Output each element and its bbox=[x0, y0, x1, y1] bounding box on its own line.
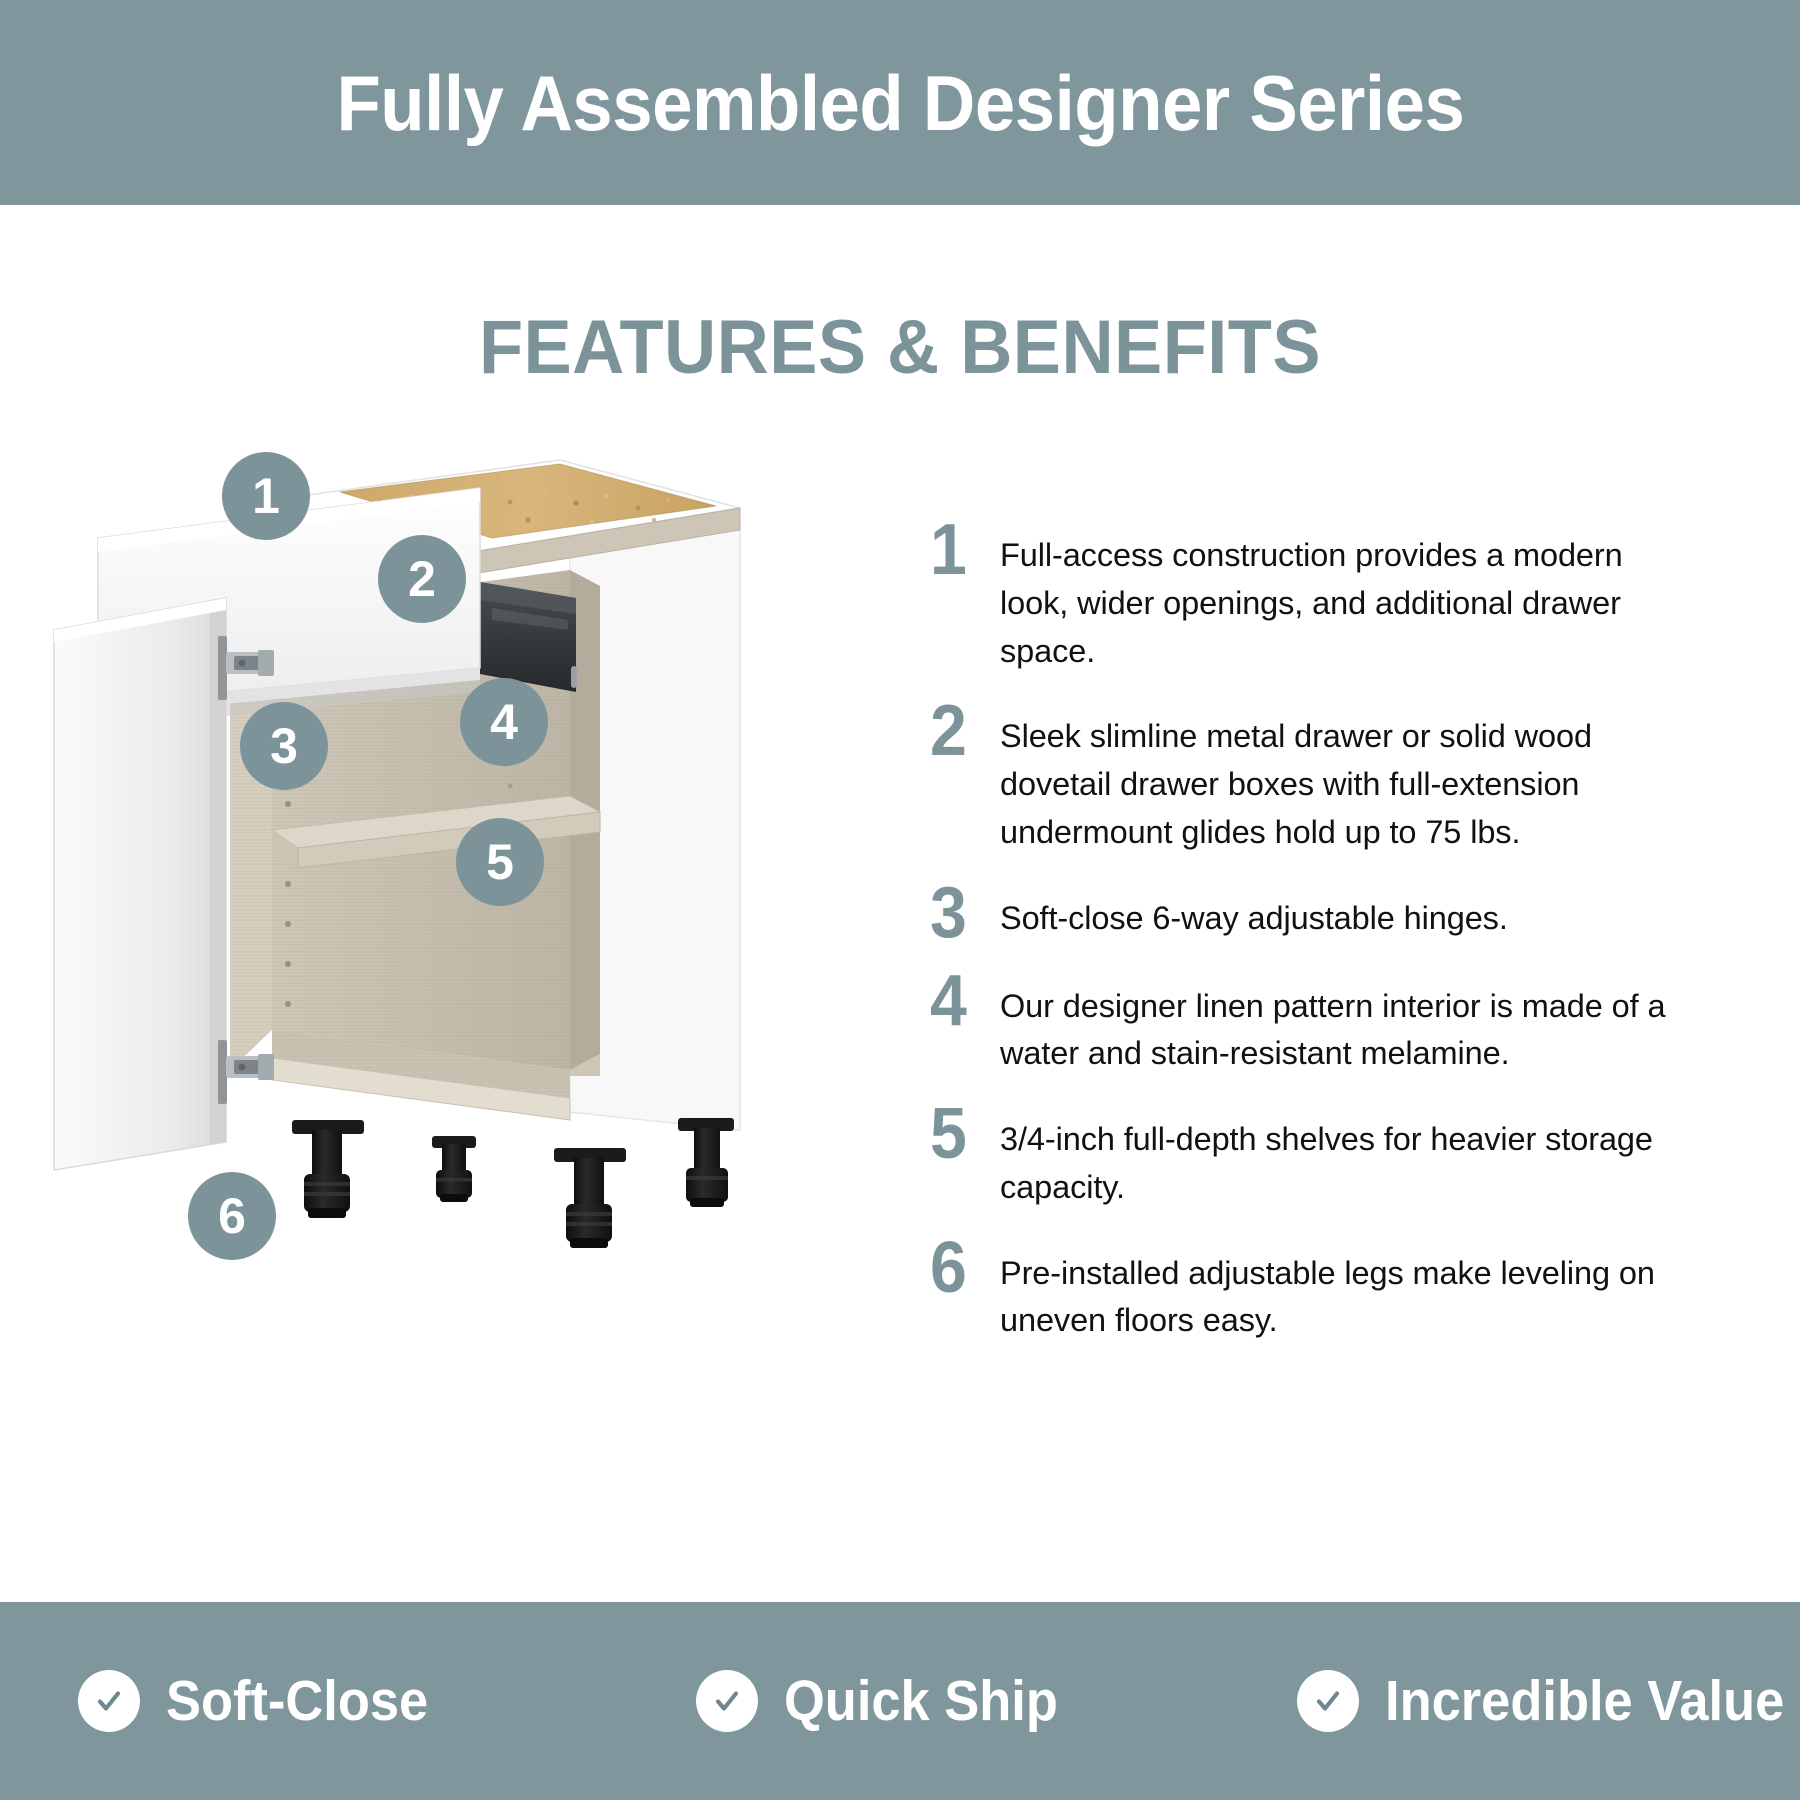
feature-item: 5 3/4-inch full-depth shelves for heavie… bbox=[930, 1104, 1690, 1212]
feature-description: Pre-installed adjustable legs make level… bbox=[1000, 1238, 1690, 1346]
check-circle-icon bbox=[696, 1670, 758, 1732]
feature-item: 1 Full-access construction provides a mo… bbox=[930, 520, 1690, 675]
leg-front-left bbox=[292, 1120, 364, 1218]
footer-benefit-label: Quick Ship bbox=[784, 1673, 1058, 1730]
callout-badge-6: 6 bbox=[188, 1172, 276, 1260]
feature-number: 6 bbox=[930, 1238, 994, 1300]
feature-description: Soft-close 6-way adjustable hinges. bbox=[1000, 883, 1690, 943]
callout-badge-5: 5 bbox=[456, 818, 544, 906]
leg-back-left bbox=[432, 1136, 476, 1202]
feature-item: 6 Pre-installed adjustable legs make lev… bbox=[930, 1238, 1690, 1346]
feature-number: 4 bbox=[930, 971, 994, 1033]
leg-back-right bbox=[678, 1118, 734, 1207]
callout-number: 1 bbox=[252, 471, 280, 521]
feature-number: 3 bbox=[930, 883, 994, 945]
callout-number: 2 bbox=[408, 554, 436, 604]
feature-description: Full-access construction provides a mode… bbox=[1000, 520, 1690, 675]
feature-description: Our designer linen pattern interior is m… bbox=[1000, 971, 1690, 1079]
feature-item: 2 Sleek slimline metal drawer or solid w… bbox=[930, 701, 1690, 856]
callout-badge-2: 2 bbox=[378, 535, 466, 623]
footer-benefit-soft-close: Soft-Close bbox=[78, 1670, 451, 1732]
section-heading: FEATURES & BENEFITS bbox=[45, 310, 1755, 386]
feature-number: 5 bbox=[930, 1104, 994, 1166]
product-image: 1 2 3 4 5 6 bbox=[40, 430, 820, 1330]
callout-number: 3 bbox=[270, 721, 298, 771]
feature-item: 3 Soft-close 6-way adjustable hinges. bbox=[930, 883, 1690, 945]
footer-benefit-quick-ship: Quick Ship bbox=[696, 1670, 1082, 1732]
callout-number: 4 bbox=[490, 697, 518, 747]
callout-number: 5 bbox=[486, 837, 514, 887]
feature-description: Sleek slimline metal drawer or solid woo… bbox=[1000, 701, 1690, 856]
feature-number: 2 bbox=[930, 701, 994, 763]
callout-badge-1: 1 bbox=[222, 452, 310, 540]
check-circle-icon bbox=[78, 1670, 140, 1732]
callout-badge-4: 4 bbox=[460, 678, 548, 766]
feature-description: 3/4-inch full-depth shelves for heavier … bbox=[1000, 1104, 1690, 1212]
callout-badge-3: 3 bbox=[240, 702, 328, 790]
header-bar: Fully Assembled Designer Series bbox=[0, 0, 1800, 205]
page-title: Fully Assembled Designer Series bbox=[336, 64, 1464, 142]
footer-benefit-label: Soft-Close bbox=[166, 1673, 428, 1730]
cabinet-door bbox=[54, 598, 226, 1170]
check-circle-icon bbox=[1297, 1670, 1359, 1732]
callout-number: 6 bbox=[218, 1191, 246, 1241]
footer-benefit-label: Incredible Value bbox=[1385, 1673, 1784, 1730]
drawer-glide bbox=[571, 666, 577, 688]
footer-benefit-incredible-value: Incredible Value bbox=[1297, 1670, 1800, 1732]
feature-number: 1 bbox=[930, 520, 994, 582]
features-list: 1 Full-access construction provides a mo… bbox=[930, 520, 1690, 1371]
leg-front-right bbox=[554, 1148, 626, 1248]
feature-item: 4 Our designer linen pattern interior is… bbox=[930, 971, 1690, 1079]
footer-bar: Soft-Close Quick Ship Incredible Value bbox=[0, 1602, 1800, 1800]
